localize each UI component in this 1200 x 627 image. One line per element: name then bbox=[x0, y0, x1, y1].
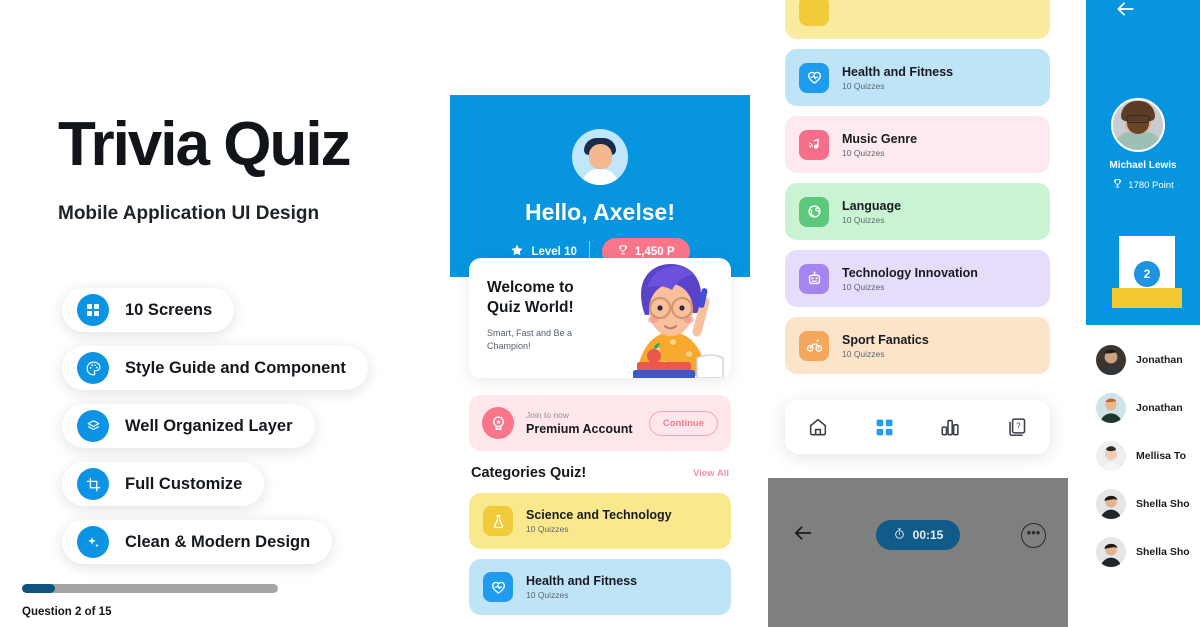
level-label: Level 10 bbox=[531, 246, 576, 258]
leaderboard-list: Jonathan Jonathan Mellisa To bbox=[1086, 336, 1200, 576]
timer-value: 00:15 bbox=[913, 528, 944, 542]
category-card-language[interactable]: Language 10 Quizzes bbox=[785, 183, 1050, 240]
feature-item-clean-modern[interactable]: Clean & Modern Design bbox=[62, 520, 332, 564]
podium-base bbox=[1112, 288, 1182, 308]
avatar bbox=[1096, 393, 1126, 423]
feature-label: Well Organized Layer bbox=[125, 417, 293, 436]
avatar-face bbox=[589, 144, 612, 169]
category-quizzes: 10 Quizzes bbox=[842, 349, 929, 359]
welcome-title-line2: Quiz World! bbox=[487, 298, 607, 318]
category-quizzes: 10 Quizzes bbox=[842, 282, 978, 292]
points-label: 1,450 P bbox=[635, 246, 675, 258]
page-title: Trivia Quiz bbox=[58, 112, 350, 177]
badge-star-icon bbox=[482, 407, 514, 439]
crop-icon bbox=[77, 468, 109, 500]
home-header: Hello, Axelse! Level 10 1,450 P bbox=[450, 95, 750, 277]
avatar-shirt bbox=[1115, 132, 1161, 152]
category-name: Sport Fanatics bbox=[842, 333, 929, 347]
feature-item-style-guide[interactable]: Style Guide and Component bbox=[62, 346, 368, 390]
category-quizzes: 10 Quizzes bbox=[526, 524, 672, 534]
leader-points-label: 1780 Point bbox=[1128, 180, 1173, 191]
flask-icon bbox=[799, 0, 829, 26]
feature-item-full-customize[interactable]: Full Customize bbox=[62, 462, 264, 506]
list-item-name: Mellisa To bbox=[1136, 450, 1186, 462]
list-item-name: Jonathan bbox=[1136, 354, 1183, 366]
welcome-text: Welcome to Quiz World! Smart, Fast and B… bbox=[487, 278, 607, 353]
category-text: Health and Fitness 10 Quizzes bbox=[842, 65, 953, 91]
back-arrow-icon[interactable] bbox=[791, 522, 815, 549]
student-illustration bbox=[601, 258, 731, 378]
nav-home-icon[interactable] bbox=[807, 416, 829, 438]
heart-pulse-icon bbox=[799, 63, 829, 93]
category-card-science-clipped[interactable] bbox=[785, 0, 1050, 39]
premium-text: Join to now Premium Account bbox=[526, 410, 649, 436]
list-item[interactable]: Shella Sho bbox=[1086, 480, 1200, 528]
rank-badge: 2 bbox=[1134, 261, 1160, 287]
premium-banner[interactable]: Join to now Premium Account Continue bbox=[469, 395, 731, 451]
feature-label: Full Customize bbox=[125, 475, 242, 494]
nav-bar-chart-icon[interactable] bbox=[939, 416, 961, 438]
feature-label: Clean & Modern Design bbox=[125, 533, 310, 552]
category-text: Health and Fitness 10 Quizzes bbox=[526, 574, 637, 600]
leader-points: 1780 Point bbox=[1086, 178, 1200, 192]
svg-text:?: ? bbox=[1016, 421, 1021, 430]
category-text: Language 10 Quizzes bbox=[842, 199, 901, 225]
welcome-title-line1: Welcome to bbox=[487, 278, 607, 298]
quiz-progress-label: Question 2 of 15 bbox=[22, 606, 111, 618]
category-quizzes: 10 Quizzes bbox=[526, 590, 637, 600]
category-quizzes: 10 Quizzes bbox=[842, 215, 901, 225]
category-name: Language bbox=[842, 199, 901, 213]
quiz-progress-bar bbox=[22, 584, 278, 593]
feature-list: 10 Screens Style Guide and Component bbox=[62, 288, 368, 578]
continue-button[interactable]: Continue bbox=[649, 411, 718, 436]
avatar-body bbox=[582, 169, 618, 185]
category-quizzes: 10 Quizzes bbox=[842, 148, 917, 158]
greeting-text: Hello, Axelse! bbox=[525, 199, 675, 226]
avatar bbox=[1096, 441, 1126, 471]
feature-label: Style Guide and Component bbox=[125, 359, 346, 378]
avatar-glasses bbox=[1126, 115, 1150, 123]
category-card-sport[interactable]: Sport Fanatics 10 Quizzes bbox=[785, 317, 1050, 374]
avatar bbox=[1096, 489, 1126, 519]
home-screen: Hello, Axelse! Level 10 1,450 P bbox=[450, 95, 750, 627]
promo-panel: Trivia Quiz Mobile Application UI Design… bbox=[0, 0, 450, 627]
leaderboard-hero: Michael Lewis 1780 Point 2 bbox=[1086, 0, 1200, 325]
category-text: Sport Fanatics 10 Quizzes bbox=[842, 333, 929, 359]
category-text: Music Genre 10 Quizzes bbox=[842, 132, 917, 158]
music-note-icon bbox=[799, 130, 829, 160]
premium-title: Premium Account bbox=[526, 422, 649, 436]
quiz-timer: 00:15 bbox=[876, 520, 961, 550]
leader-avatar[interactable] bbox=[1111, 98, 1165, 152]
feature-item-10-screens[interactable]: 10 Screens bbox=[62, 288, 234, 332]
leaderboard-screen: Michael Lewis 1780 Point 2 bbox=[1086, 0, 1200, 627]
list-item[interactable]: Mellisa To bbox=[1086, 432, 1200, 480]
avatar bbox=[1096, 345, 1126, 375]
back-arrow-icon[interactable] bbox=[1114, 0, 1137, 25]
list-item-name: Shella Sho bbox=[1136, 498, 1190, 510]
podium-card: 2 bbox=[1119, 236, 1175, 292]
trophy-icon bbox=[1112, 178, 1123, 192]
palette-icon bbox=[77, 352, 109, 384]
heart-pulse-icon bbox=[483, 572, 513, 602]
layers-icon bbox=[77, 410, 109, 442]
leader-name: Michael Lewis bbox=[1086, 160, 1200, 171]
category-name: Science and Technology bbox=[526, 508, 672, 522]
category-card-music[interactable]: Music Genre 10 Quizzes bbox=[785, 116, 1050, 173]
category-list: Health and Fitness 10 Quizzes Music Genr… bbox=[785, 0, 1050, 384]
flask-icon bbox=[483, 506, 513, 536]
quiz-toolbar: 00:15 ••• bbox=[791, 520, 1046, 550]
category-text: Science and Technology 10 Quizzes bbox=[526, 508, 672, 534]
category-name: Music Genre bbox=[842, 132, 917, 146]
category-card-health[interactable]: Health and Fitness 10 Quizzes bbox=[469, 559, 731, 615]
category-name: Technology Innovation bbox=[842, 266, 978, 280]
avatar[interactable] bbox=[572, 129, 628, 185]
nav-grid-icon[interactable] bbox=[874, 417, 895, 438]
category-text: Technology Innovation 10 Quizzes bbox=[842, 266, 978, 292]
categories-header: Categories Quiz! View All bbox=[471, 465, 729, 481]
list-item[interactable]: Jonathan bbox=[1086, 336, 1200, 384]
list-item[interactable]: Jonathan bbox=[1086, 384, 1200, 432]
feature-label: 10 Screens bbox=[125, 301, 212, 320]
sparkle-icon bbox=[77, 526, 109, 558]
welcome-card[interactable]: Welcome to Quiz World! Smart, Fast and B… bbox=[469, 258, 731, 378]
category-card-science[interactable]: Science and Technology 10 Quizzes bbox=[469, 493, 731, 549]
stopwatch-icon bbox=[893, 527, 906, 543]
list-item-name: Shella Sho bbox=[1136, 546, 1190, 558]
premium-eyebrow: Join to now bbox=[526, 410, 649, 420]
nav-question-cards-icon[interactable]: ? bbox=[1006, 416, 1028, 438]
quiz-progress-fill bbox=[22, 584, 55, 593]
category-card-health[interactable]: Health and Fitness 10 Quizzes bbox=[785, 49, 1050, 106]
home-category-list: Science and Technology 10 Quizzes Health… bbox=[469, 493, 731, 625]
category-card-technology[interactable]: Technology Innovation 10 Quizzes bbox=[785, 250, 1050, 307]
welcome-subtitle: Smart, Fast and Be a Champion! bbox=[487, 327, 607, 353]
grid-icon bbox=[77, 294, 109, 326]
globe-icon bbox=[799, 197, 829, 227]
quiz-screen: 00:15 ••• bbox=[768, 478, 1068, 627]
category-quizzes: 10 Quizzes bbox=[842, 81, 953, 91]
bottom-navigation: ? bbox=[785, 400, 1050, 454]
trophy-icon bbox=[617, 244, 629, 259]
list-item-name: Jonathan bbox=[1136, 402, 1183, 414]
ellipsis-icon[interactable]: ••• bbox=[1021, 523, 1046, 548]
bicycle-icon bbox=[799, 331, 829, 361]
categories-screen: Health and Fitness 10 Quizzes Music Genr… bbox=[768, 0, 1068, 470]
list-item[interactable]: Shella Sho bbox=[1086, 528, 1200, 576]
robot-icon bbox=[799, 264, 829, 294]
categories-title: Categories Quiz! bbox=[471, 465, 586, 481]
category-name: Health and Fitness bbox=[842, 65, 953, 79]
page-subtitle: Mobile Application UI Design bbox=[58, 203, 319, 225]
view-all-link[interactable]: View All bbox=[693, 468, 729, 479]
category-name: Health and Fitness bbox=[526, 574, 637, 588]
feature-item-organized-layer[interactable]: Well Organized Layer bbox=[62, 404, 315, 448]
avatar bbox=[1096, 537, 1126, 567]
